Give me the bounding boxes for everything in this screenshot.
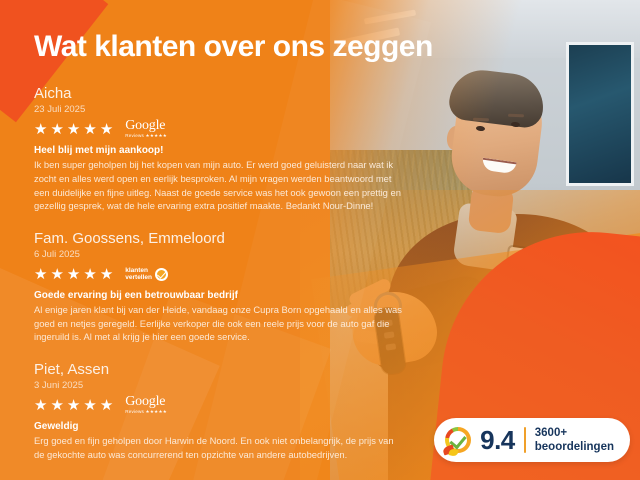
reviewer-name: Aicha <box>34 85 404 103</box>
overall-score-badge: 9.4 3600+ beoordelingen <box>434 418 630 462</box>
page-title: Wat klanten over ons zeggen <box>34 30 640 63</box>
google-reviews-subtext: Reviews ★★★★★ <box>125 134 167 139</box>
review-title: Geweldig <box>34 421 404 432</box>
reviewer-name: Fam. Goossens, Emmeloord <box>34 230 404 248</box>
review-count-number: 3600+ <box>535 426 614 440</box>
reviewer-name: Piet, Assen <box>34 361 404 379</box>
review-count: 3600+ beoordelingen <box>535 426 614 455</box>
klantenvertellen-logo-icon <box>445 427 471 453</box>
review-date: 23 Juli 2025 <box>34 103 404 117</box>
star-icon: ★ <box>34 122 47 137</box>
review-count-label: beoordelingen <box>535 440 614 454</box>
star-icon: ★ <box>50 398 63 413</box>
review-meta: ★ ★ ★ ★ ★ klanten vertellen <box>34 264 404 284</box>
review-title: Heel blij met mijn aankoop! <box>34 145 404 156</box>
check-circle-icon <box>155 268 168 281</box>
content-column: Wat klanten over ons zeggen Aicha 23 Jul… <box>0 0 640 480</box>
review-date: 6 Juli 2025 <box>34 248 404 262</box>
star-rating: ★ ★ ★ ★ ★ <box>34 122 113 137</box>
review-card: Piet, Assen 3 Juni 2025 ★ ★ ★ ★ ★ Google… <box>34 361 404 462</box>
klantenvertellen-line1: klanten <box>125 267 152 274</box>
review-date: 3 Juni 2025 <box>34 379 404 393</box>
review-body: Ik ben super geholpen bij het kopen van … <box>34 158 404 213</box>
star-icon: ★ <box>67 398 80 413</box>
star-icon: ★ <box>83 398 96 413</box>
review-card: Fam. Goossens, Emmeloord 6 Juli 2025 ★ ★… <box>34 230 404 344</box>
star-icon: ★ <box>67 122 80 137</box>
klantenvertellen-logo: klanten vertellen <box>125 267 168 282</box>
google-reviews-subtext: Reviews ★★★★★ <box>125 410 167 415</box>
score-value: 9.4 <box>480 427 515 453</box>
star-icon: ★ <box>50 267 63 282</box>
review-meta: ★ ★ ★ ★ ★ Google Reviews ★★★★★ <box>34 395 404 415</box>
google-reviews-logo: Google Reviews ★★★★★ <box>125 119 167 139</box>
testimonial-banner: VDH Wat klanten over ons zeggen Aicha 23… <box>0 0 640 480</box>
star-icon: ★ <box>83 122 96 137</box>
star-rating: ★ ★ ★ ★ ★ <box>34 267 113 282</box>
star-icon: ★ <box>100 122 113 137</box>
review-body: Al enige jaren klant bij van der Heide, … <box>34 303 404 344</box>
star-icon: ★ <box>100 398 113 413</box>
review-meta: ★ ★ ★ ★ ★ Google Reviews ★★★★★ <box>34 119 404 139</box>
review-body: Erg goed en fijn geholpen door Harwin de… <box>34 434 404 461</box>
google-wordmark: Google <box>125 395 165 409</box>
logo-leaf-yellow <box>448 448 458 457</box>
star-icon: ★ <box>50 122 63 137</box>
google-wordmark: Google <box>125 119 165 133</box>
star-icon: ★ <box>34 267 47 282</box>
score-divider <box>524 427 526 453</box>
review-title: Goede ervaring bij een betrouwbaar bedri… <box>34 290 404 301</box>
review-card: Aicha 23 Juli 2025 ★ ★ ★ ★ ★ Google Revi… <box>34 85 404 213</box>
klantenvertellen-line2: vertellen <box>125 274 152 281</box>
star-icon: ★ <box>100 267 113 282</box>
star-icon: ★ <box>67 267 80 282</box>
klantenvertellen-wordmark: klanten vertellen <box>125 267 152 282</box>
google-reviews-logo: Google Reviews ★★★★★ <box>125 395 167 415</box>
star-icon: ★ <box>83 267 96 282</box>
star-icon: ★ <box>34 398 47 413</box>
star-rating: ★ ★ ★ ★ ★ <box>34 398 113 413</box>
